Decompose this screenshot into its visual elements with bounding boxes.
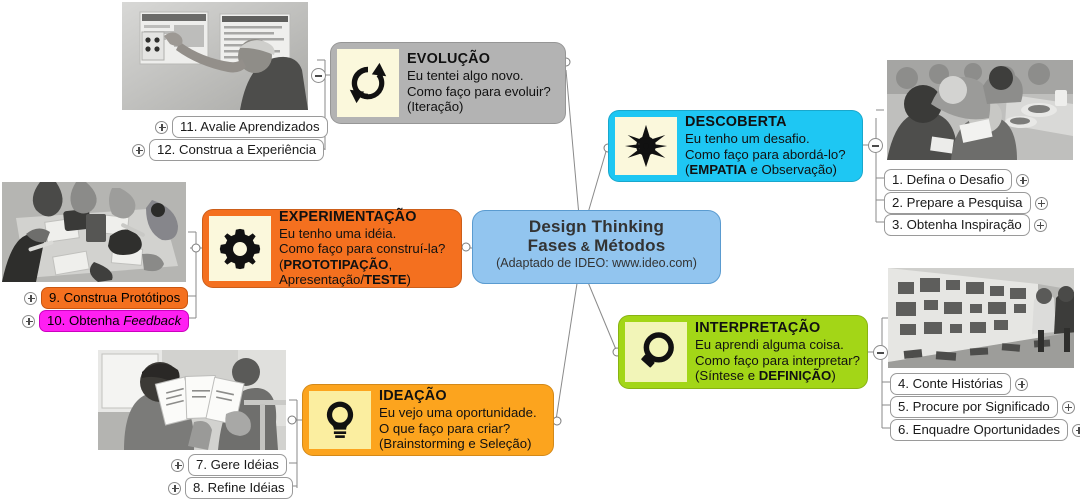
phase-text-descoberta: DESCOBERTA Eu tenho um desafio. Como faç… [677,117,846,175]
phase-line: Como faço para abordá-lo? [685,147,846,162]
photo-experimentacao [2,182,186,282]
phase-line: O que faço para criar? [379,421,537,436]
gear-icon [209,216,271,281]
center-subtitle: (Adaptado de IDEO: www.ideo.com) [483,256,710,270]
phase-text-interpretacao: INTERPRETAÇÃO Eu aprendi alguma coisa. C… [687,322,860,382]
phase-title-interpretacao: INTERPRETAÇÃO [695,320,860,337]
leaf-label[interactable]: 3. Obtenha Inspiração [884,214,1030,236]
phase-line: Eu tentei algo novo. [407,68,551,83]
phase-node-descoberta[interactable]: DESCOBERTA Eu tenho um desafio. Como faç… [608,110,863,182]
list-item[interactable]: 5. Procure por Significado [890,396,1075,418]
phase-line: Eu tenho uma idéia. [279,226,445,241]
phase-node-experimentacao[interactable]: EXPERIMENTAÇÃO Eu tenho uma idéia. Como … [202,209,462,288]
collapse-interpretacao[interactable] [873,345,888,360]
expand-plus-icon[interactable] [24,292,37,305]
list-item[interactable]: 3. Obtenha Inspiração [884,214,1047,236]
list-item[interactable]: 11. Avalie Aprendizados [155,116,328,138]
leaf-label[interactable]: 2. Prepare a Pesquisa [884,192,1031,214]
phase-text-experimentacao: EXPERIMENTAÇÃO Eu tenho uma idéia. Como … [271,216,445,281]
leaf-label[interactable]: 8. Refine Idéias [185,477,293,499]
phase-text-evolucao: EVOLUÇÃO Eu tentei algo novo. Como faço … [399,49,551,117]
list-item[interactable]: 2. Prepare a Pesquisa [884,192,1048,214]
photo-descoberta [887,60,1073,160]
list-item[interactable]: 7. Gere Idéias [171,454,287,476]
expand-plus-icon[interactable] [22,315,35,328]
leaf-label[interactable]: 1. Defina o Desafio [884,169,1012,191]
phase-title-descoberta: DESCOBERTA [685,114,846,131]
phase-line: (EMPATIA e Observação) [685,162,846,177]
expand-plus-icon[interactable] [1072,424,1080,437]
phase-title-evolucao: EVOLUÇÃO [407,51,551,68]
list-item[interactable]: 6. Enquadre Oportunidades [890,419,1080,441]
center-node[interactable]: Design Thinking Fases & Métodos (Adaptad… [472,210,721,284]
leaf-label[interactable]: 9. Construa Protótipos [41,287,188,309]
mindmap-canvas: Design Thinking Fases & Métodos (Adaptad… [0,0,1080,502]
expand-plus-icon[interactable] [171,459,184,472]
expand-plus-icon[interactable] [155,121,168,134]
lightbulb-icon [309,391,371,449]
expand-plus-icon[interactable] [1015,378,1028,391]
phase-line: (Brainstorming e Seleção) [379,436,537,451]
leaf-label[interactable]: 6. Enquadre Oportunidades [890,419,1068,441]
phase-line: (PROTOTIPAÇÃO, [279,257,445,272]
phase-line: (Síntese e DEFINIÇÃO) [695,368,860,383]
phase-title-ideacao: IDEAÇÃO [379,388,537,405]
compass-icon [615,117,677,175]
phase-line: Como faço para evoluir? [407,84,551,99]
phase-node-evolucao[interactable]: EVOLUÇÃO Eu tentei algo novo. Como faço … [330,42,566,124]
list-item[interactable]: 9. Construa Protótipos [24,287,188,309]
leaf-label[interactable]: 7. Gere Idéias [188,454,287,476]
expand-plus-icon[interactable] [1035,197,1048,210]
leaf-label[interactable]: 4. Conte Histórias [890,373,1011,395]
phase-line: (Iteração) [407,99,551,114]
list-item[interactable]: 8. Refine Idéias [168,477,293,499]
leaf-label[interactable]: 10. Obtenha Feedback [39,310,189,332]
collapse-descoberta[interactable] [868,138,883,153]
phase-line: Eu aprendi alguma coisa. [695,337,860,352]
magnifier-icon [625,322,687,382]
phase-text-ideacao: IDEAÇÃO Eu vejo uma oportunidade. O que … [371,391,537,449]
phase-title-experimentacao: EXPERIMENTAÇÃO [279,209,445,226]
expand-plus-icon[interactable] [1062,401,1075,414]
leaf-label[interactable]: 5. Procure por Significado [890,396,1058,418]
list-item[interactable]: 4. Conte Histórias [890,373,1028,395]
phase-line: Apresentação/TESTE) [279,272,445,287]
center-title-line2: Fases & Métodos [483,236,710,255]
photo-evolucao [122,2,308,110]
phase-line: Eu vejo uma oportunidade. [379,405,537,420]
phase-line: Como faço para interpretar? [695,353,860,368]
list-item[interactable]: 1. Defina o Desafio [884,169,1029,191]
collapse-evolucao[interactable] [311,68,326,83]
phase-node-interpretacao[interactable]: INTERPRETAÇÃO Eu aprendi alguma coisa. C… [618,315,868,389]
expand-plus-icon[interactable] [1016,174,1029,187]
phase-node-ideacao[interactable]: IDEAÇÃO Eu vejo uma oportunidade. O que … [302,384,554,456]
list-item[interactable]: 10. Obtenha Feedback [22,310,189,332]
expand-plus-icon[interactable] [168,482,181,495]
cycle-arrows-icon [337,49,399,117]
expand-plus-icon[interactable] [1034,219,1047,232]
phase-line: Eu tenho um desafio. [685,131,846,146]
photo-interpretacao [888,268,1074,368]
photo-ideacao [98,350,286,450]
center-title-line1: Design Thinking [483,217,710,236]
leaf-label[interactable]: 12. Construa a Experiência [149,139,324,161]
leaf-label[interactable]: 11. Avalie Aprendizados [172,116,328,138]
phase-line: Como faço para construí-la? [279,241,445,256]
list-item[interactable]: 12. Construa a Experiência [132,139,324,161]
expand-plus-icon[interactable] [132,144,145,157]
